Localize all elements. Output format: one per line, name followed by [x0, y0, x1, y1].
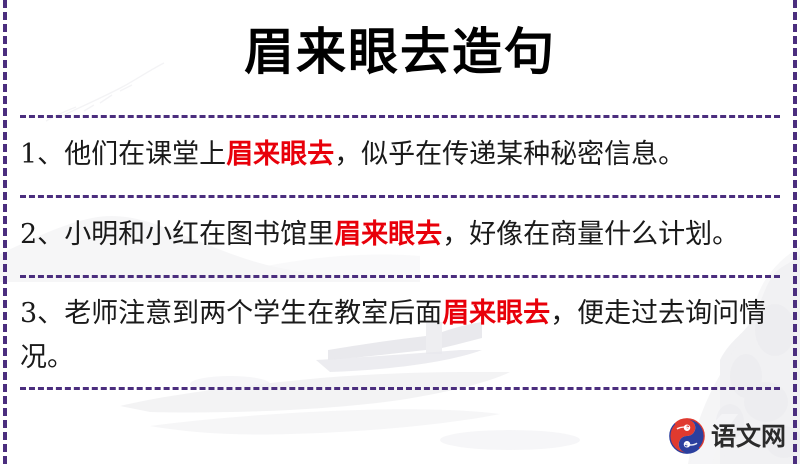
divider-1: [20, 115, 780, 118]
page-title: 眉来眼去造句: [0, 22, 800, 82]
sentence-item-3: 3、老师注意到两个学生在教室后面眉来眼去，便走过去询问情况。: [20, 292, 774, 380]
sentence-2-keyword: 眉来眼去: [334, 219, 442, 250]
divider-3: [20, 275, 780, 278]
sentence-item-1: 1、他们在课堂上眉来眼去，似乎在传递某种秘密信息。: [20, 133, 774, 177]
sentence-1-number: 1、: [20, 139, 64, 170]
worksheet-page: 眉来眼去造句 1、他们在课堂上眉来眼去，似乎在传递某种秘密信息。 2、小明和小红…: [0, 0, 800, 464]
frame-right-dashed-rail: [793, 0, 797, 464]
frame-left-dashed-rail: [3, 0, 7, 464]
divider-4: [20, 387, 780, 390]
sentence-2-number: 2、: [20, 219, 64, 250]
taiji-fish-logo-icon: [669, 418, 705, 454]
sentence-3-number: 3、: [20, 298, 64, 329]
sentence-item-2: 2、小明和小红在图书馆里眉来眼去，好像在商量什么计划。: [20, 213, 774, 257]
sentence-2-text-before: 小明和小红在图书馆里: [64, 219, 334, 250]
sentence-3-keyword: 眉来眼去: [442, 298, 550, 329]
sentence-1-text-after: ，似乎在传递某种秘密信息。: [334, 139, 685, 170]
sentence-3-text-before: 老师注意到两个学生在教室后面: [64, 298, 442, 329]
site-logo[interactable]: 语文网: [669, 418, 786, 454]
sentence-1-text-before: 他们在课堂上: [64, 139, 226, 170]
sentence-2-text-after: ，好像在商量什么计划。: [442, 219, 739, 250]
divider-2: [20, 195, 780, 198]
site-logo-text: 语文网: [711, 424, 786, 449]
sentence-1-keyword: 眉来眼去: [226, 139, 334, 170]
